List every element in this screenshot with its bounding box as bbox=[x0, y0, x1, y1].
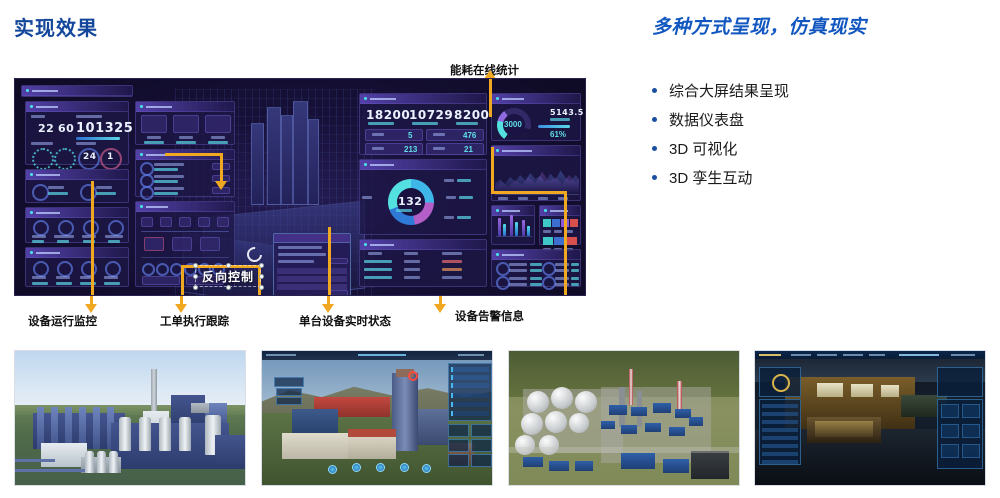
page-title-left: 实现效果 bbox=[14, 12, 98, 41]
donut-center-value: 132 bbox=[398, 195, 422, 208]
metric-count-a: 24 bbox=[83, 152, 97, 162]
annotation-path-reverse-v bbox=[220, 153, 223, 183]
interior-panel-list bbox=[759, 399, 801, 465]
panel-alarm-types bbox=[25, 207, 129, 243]
bullet-dot-icon bbox=[652, 146, 657, 151]
bullet-dot-icon bbox=[652, 175, 657, 180]
selected-text-label: 反向控制 bbox=[196, 266, 260, 286]
annotation-path-right-h bbox=[491, 191, 567, 194]
list-item-label: 数据仪表盘 bbox=[669, 109, 744, 130]
twin-tag-2[interactable] bbox=[276, 388, 302, 396]
kpi-value-2: 10729 bbox=[409, 108, 453, 122]
callout-arrow-4 bbox=[434, 304, 446, 313]
thumbnail-row bbox=[14, 350, 986, 486]
panel-summary-list bbox=[491, 249, 581, 287]
metric-pressure: 101325 bbox=[76, 121, 133, 136]
list-item-label: 综合大屏结果呈现 bbox=[669, 80, 789, 101]
selected-text-box[interactable]: 反向控制 bbox=[195, 265, 261, 287]
gauge-total: 5143.5 bbox=[550, 108, 584, 117]
panel-distribution: 132 bbox=[359, 159, 487, 235]
annotation-path-device-down bbox=[328, 227, 331, 296]
twin-top-bar bbox=[262, 351, 492, 360]
resize-handle-se[interactable] bbox=[259, 285, 264, 290]
twin-nav-button-2[interactable] bbox=[352, 463, 361, 472]
annotation-path-left-down bbox=[91, 181, 94, 296]
dashboard-screenshot: 22 60 101325 24 1 bbox=[14, 78, 586, 296]
metric-count-b: 1 bbox=[107, 152, 114, 162]
twin-stat-5 bbox=[448, 454, 469, 467]
twin-stat-3 bbox=[448, 439, 469, 452]
panel-alarm-table bbox=[359, 239, 487, 287]
callout-arrow-1 bbox=[85, 304, 97, 313]
alert-marker-icon[interactable] bbox=[408, 371, 418, 381]
annotation-arrow-reverse bbox=[215, 181, 227, 190]
twin-nav-button-5[interactable] bbox=[422, 464, 431, 473]
slide-root: 实现效果 多种方式呈现，仿真现实 综合大屏结果呈现 数据仪表盘 3D 可视化 3… bbox=[0, 0, 1000, 498]
annotation-path-right-down bbox=[564, 191, 567, 295]
kpi-cell-3: 213 bbox=[404, 145, 417, 154]
interior-panel-gauge bbox=[759, 367, 801, 397]
interior-top-bar bbox=[755, 351, 985, 359]
kpi-cell-1: 5 bbox=[408, 131, 412, 140]
kpi-cell-4: 21 bbox=[464, 145, 473, 154]
list-item: 3D 孪生互动 bbox=[652, 163, 982, 192]
gauge-percent: 61% bbox=[550, 130, 566, 139]
annotation-path-energy-v2 bbox=[489, 113, 492, 117]
resize-handle-w[interactable] bbox=[193, 274, 198, 279]
twin-tag-1[interactable] bbox=[274, 377, 304, 387]
annotation-path-wo-down bbox=[181, 265, 184, 296]
panel-bar-chart bbox=[491, 205, 535, 245]
callout-label-device-realtime: 单台设备实时状态 bbox=[299, 313, 391, 329]
twin-tag-3[interactable] bbox=[276, 397, 302, 405]
resize-handle-nw[interactable] bbox=[193, 263, 198, 268]
list-item: 数据仪表盘 bbox=[652, 105, 982, 134]
resize-handle-s[interactable] bbox=[226, 285, 231, 290]
bullet-dot-icon bbox=[652, 88, 657, 93]
panel-heatmap bbox=[539, 205, 581, 245]
twin-stat-1 bbox=[448, 424, 469, 437]
panel-environment: 22 60 101325 24 1 bbox=[25, 101, 129, 165]
resize-handle-n[interactable] bbox=[226, 263, 231, 268]
trend-area-series-2 bbox=[495, 161, 579, 193]
metric-humidity: 60 bbox=[58, 122, 74, 135]
twin-stat-4 bbox=[471, 439, 492, 452]
thumbnail-factory-twin bbox=[261, 350, 493, 486]
kpi-value-1: 18200 bbox=[366, 108, 410, 122]
panel-title-bar bbox=[22, 86, 132, 96]
kpi-value-3: 8200 bbox=[454, 108, 489, 122]
list-item-label: 3D 可视化 bbox=[669, 138, 737, 159]
gauge-value: 3000 bbox=[504, 120, 522, 129]
popup-title-bar bbox=[274, 234, 350, 243]
thumbnail-plant-daylight bbox=[14, 350, 246, 486]
thumbnail-refinery-aerial bbox=[508, 350, 740, 486]
feature-list: 综合大屏结果呈现 数据仪表盘 3D 可视化 3D 孪生互动 bbox=[652, 76, 982, 192]
twin-stat-6 bbox=[471, 454, 492, 467]
twin-side-panel bbox=[448, 363, 492, 421]
annotation-path-reverse-h bbox=[165, 153, 223, 156]
panel-device-status bbox=[25, 169, 129, 203]
interior-panel-cameras bbox=[937, 399, 983, 469]
panel-work-orders bbox=[135, 101, 235, 145]
annotation-path-energy-v bbox=[489, 79, 492, 113]
kpi-cell-2: 476 bbox=[463, 131, 476, 140]
thumbnail-interior-twin bbox=[754, 350, 986, 486]
twin-stat-2 bbox=[471, 424, 492, 437]
callout-label-workorder-tracking: 工单执行跟踪 bbox=[160, 313, 229, 329]
callout-label-device-alarm: 设备告警信息 bbox=[455, 308, 524, 324]
callout-arrow-3 bbox=[322, 304, 334, 313]
page-title-right: 多种方式呈现，仿真现实 bbox=[652, 12, 867, 39]
resize-handle-ne[interactable] bbox=[259, 263, 264, 268]
twin-nav-button-1[interactable] bbox=[328, 465, 337, 474]
twin-nav-button-3[interactable] bbox=[376, 463, 385, 472]
list-item: 综合大屏结果呈现 bbox=[652, 76, 982, 105]
metric-temperature: 22 bbox=[38, 122, 54, 135]
list-item-label: 3D 孪生互动 bbox=[669, 167, 752, 188]
resize-handle-sw[interactable] bbox=[193, 285, 198, 290]
panel-device-categories bbox=[25, 247, 129, 287]
panel-header-left bbox=[21, 85, 133, 97]
callout-label-device-monitoring: 设备运行监控 bbox=[28, 313, 97, 329]
panel-kpi: 18200 10729 8200 5 476 213 21 bbox=[359, 93, 487, 155]
model-info-popup[interactable] bbox=[273, 233, 351, 296]
interior-panel-radar bbox=[937, 367, 983, 397]
callout-arrow-2 bbox=[175, 304, 187, 313]
bullet-dot-icon bbox=[652, 117, 657, 122]
panel-body: 22 60 101325 24 1 bbox=[26, 111, 128, 164]
twin-nav-button-4[interactable] bbox=[400, 463, 409, 472]
panel-energy-gauge: 3000 5143.5 61% bbox=[491, 93, 581, 141]
list-item: 3D 可视化 bbox=[652, 134, 982, 163]
resize-handle-e[interactable] bbox=[259, 274, 264, 279]
annotation-path-right-v bbox=[491, 147, 494, 193]
